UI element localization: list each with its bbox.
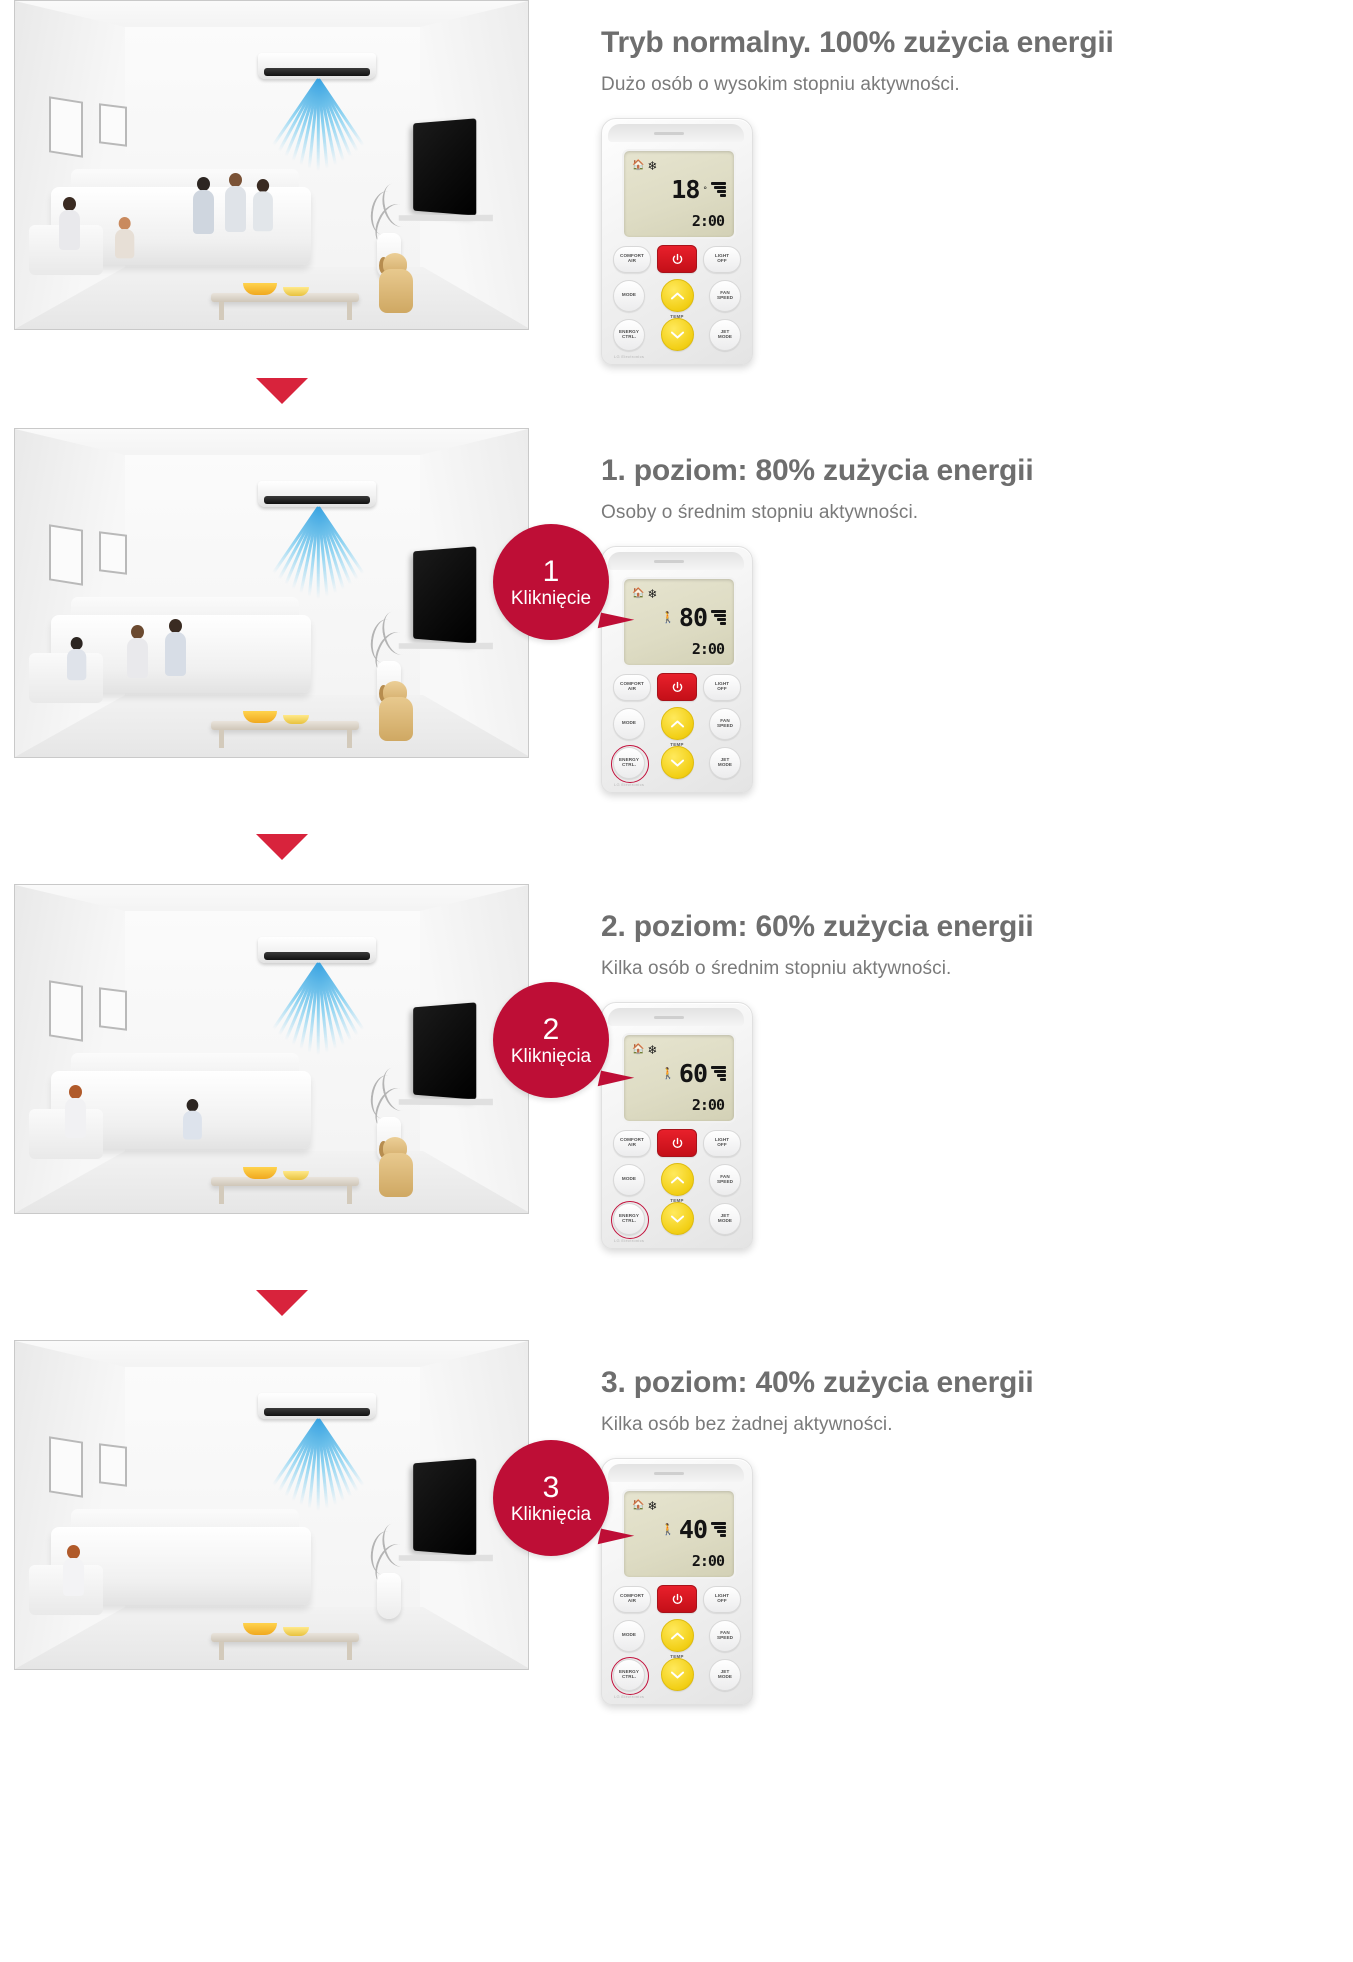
remote-top-bezel: [608, 124, 744, 142]
room-illustration: [15, 429, 528, 757]
mode-button[interactable]: MODE: [613, 708, 645, 740]
step-separator: [0, 372, 1353, 428]
section-heading: 2. poziom: 60% zużycia energii: [601, 910, 1353, 944]
section-text: 1. poziom: 80% zużycia energii Osoby o ś…: [601, 428, 1353, 796]
airflow-graphic: [251, 507, 383, 603]
triangle-down-icon: [256, 1290, 308, 1316]
chevron-down-icon: [670, 1214, 685, 1224]
remote-lcd-display: 🏠 ❄ 18 ° 2:00: [622, 149, 736, 239]
house-icon: 🏠: [632, 589, 644, 599]
remote-button-grid: COMFORT AIR LIGHT OFF: [613, 1129, 741, 1241]
degree-symbol: °: [703, 185, 707, 195]
section-text: 2. poziom: 60% zużycia energii Kilka osó…: [601, 884, 1353, 1252]
person-icon: 🚶: [661, 1067, 675, 1080]
section-heading: 3. poziom: 40% zużycia energii: [601, 1366, 1353, 1400]
ottoman: [29, 653, 103, 703]
section-subheading: Kilka osób o średnim stopniu aktywności.: [601, 958, 1353, 980]
click-count-number: 3: [543, 1473, 560, 1503]
temp-up-button[interactable]: [661, 279, 694, 312]
energy-control-infographic: Tryb normalny. 100% zużycia energii Dużo…: [0, 0, 1353, 1962]
remote-control[interactable]: 🏠 ❄ 🚶 60 2:00 COMFORT AIR: [601, 1002, 751, 1252]
comfort-air-button[interactable]: COMFORT AIR: [613, 246, 651, 273]
snowflake-icon: ❄: [647, 1044, 657, 1056]
picture-frame: [99, 531, 127, 574]
lcd-value: 40: [679, 1517, 707, 1542]
jet-mode-button[interactable]: JET MODE: [709, 1659, 741, 1691]
triangle-down-icon: [256, 834, 308, 860]
chevron-up-icon: [670, 719, 685, 729]
chevron-up-icon: [670, 1631, 685, 1641]
remote-top-bezel: [608, 552, 744, 570]
remote-lcd-display: 🏠 ❄ 🚶 80 2:00: [622, 577, 736, 667]
snowflake-icon: ❄: [647, 160, 657, 172]
temp-down-button[interactable]: [661, 746, 694, 779]
section-heading: Tryb normalny. 100% zużycia energii: [601, 26, 1353, 60]
picture-frame: [99, 103, 127, 146]
temp-down-button[interactable]: [661, 318, 694, 351]
light-off-button[interactable]: LIGHT OFF: [703, 246, 741, 273]
tv-stand: [399, 643, 493, 650]
room-illustration: [15, 885, 528, 1213]
remote-footnote: LG Electronics: [614, 354, 644, 359]
fan-bars-icon: [711, 1066, 726, 1081]
snowflake-icon: ❄: [647, 588, 657, 600]
television: [413, 1458, 476, 1555]
triangle-down-icon: [256, 378, 308, 404]
scene-illustration: [14, 1340, 529, 1670]
lcd-timer: 2:00: [692, 1552, 724, 1570]
table-leg: [347, 302, 352, 320]
temp-up-button[interactable]: [661, 707, 694, 740]
power-button[interactable]: [657, 1585, 697, 1613]
lcd-value: 18: [671, 177, 699, 202]
air-conditioner-unit: [258, 53, 376, 79]
fan-speed-button[interactable]: FAN SPEED: [709, 1620, 741, 1652]
fan-speed-button[interactable]: FAN SPEED: [709, 1164, 741, 1196]
section-text: 3. poziom: 40% zużycia energii Kilka osó…: [601, 1340, 1353, 1708]
remote-footnote: LG Electronics: [614, 1238, 644, 1243]
energy-level-section: 2 Kliknięcia 2. poziom: 60% zużycia ener…: [0, 884, 1353, 1284]
energy-ctrl-button[interactable]: ENERGY CTRL.: [613, 319, 645, 351]
table-leg: [219, 1642, 224, 1660]
chevron-down-icon: [670, 1670, 685, 1680]
coffee-table: [211, 1633, 359, 1642]
scene-illustration-wrapper: 3 Kliknięcia: [14, 1340, 529, 1670]
coffee-table: [211, 721, 359, 730]
remote-lcd-display: 🏠 ❄ 🚶 40 2:00: [622, 1489, 736, 1579]
jet-mode-button[interactable]: JET MODE: [709, 319, 741, 351]
click-count-number: 2: [543, 1015, 560, 1045]
light-off-button[interactable]: LIGHT OFF: [703, 674, 741, 701]
airflow-graphic: [251, 963, 383, 1059]
air-conditioner-unit: [258, 481, 376, 507]
vase: [377, 1573, 401, 1619]
jet-mode-button[interactable]: JET MODE: [709, 1203, 741, 1235]
power-button[interactable]: [657, 1129, 697, 1157]
power-button[interactable]: [657, 245, 697, 273]
remote-footnote: LG Electronics: [614, 782, 644, 787]
dog: [379, 1153, 413, 1197]
remote-button-grid: COMFORT AIR LIGHT OFF: [613, 1585, 741, 1697]
remote-control[interactable]: 🏠 ❄ 🚶 40 2:00 COMFORT AIR: [601, 1458, 751, 1708]
remote-top-bezel: [608, 1008, 744, 1026]
television: [413, 118, 476, 215]
click-count-badge: 1 Kliknięcie: [493, 524, 609, 640]
table-leg: [347, 1186, 352, 1204]
room-illustration: [15, 1, 528, 329]
mode-button[interactable]: MODE: [613, 1164, 645, 1196]
table-leg: [347, 1642, 352, 1660]
click-count-badge: 2 Kliknięcia: [493, 982, 609, 1098]
lcd-timer: 2:00: [692, 1096, 724, 1114]
section-subheading: Dużo osób o wysokim stopniu aktywności.: [601, 74, 1353, 96]
energy-level-section: Tryb normalny. 100% zużycia energii Dużo…: [0, 0, 1353, 372]
lcd-timer: 2:00: [692, 640, 724, 658]
table-leg: [347, 730, 352, 748]
power-icon: [671, 681, 684, 694]
house-icon: 🏠: [632, 161, 644, 171]
energy-ctrl-button[interactable]: ENERGY CTRL.: [613, 747, 645, 779]
fan-bars-icon: [711, 1522, 726, 1537]
jet-mode-button[interactable]: JET MODE: [709, 747, 741, 779]
tv-stand: [399, 215, 493, 222]
section-subheading: Kilka osób bez żadnej aktywności.: [601, 1414, 1353, 1436]
picture-frame: [99, 1443, 127, 1486]
remote-footnote: LG Electronics: [614, 1694, 644, 1699]
picture-frame: [49, 524, 83, 585]
comfort-air-button[interactable]: COMFORT AIR: [613, 1130, 651, 1157]
air-conditioner-unit: [258, 937, 376, 963]
fan-speed-button[interactable]: FAN SPEED: [709, 280, 741, 312]
light-off-button[interactable]: LIGHT OFF: [703, 1130, 741, 1157]
house-icon: 🏠: [632, 1045, 644, 1055]
table-leg: [219, 302, 224, 320]
coffee-table: [211, 1177, 359, 1186]
step-separator: [0, 1284, 1353, 1340]
power-icon: [671, 1137, 684, 1150]
energy-ctrl-button[interactable]: ENERGY CTRL.: [613, 1203, 645, 1235]
mode-button[interactable]: MODE: [613, 280, 645, 312]
snowflake-icon: ❄: [647, 1500, 657, 1512]
energy-ctrl-button[interactable]: ENERGY CTRL.: [613, 1659, 645, 1691]
click-count-label: Kliknięcia: [511, 1505, 591, 1524]
television: [413, 1002, 476, 1099]
person-icon: 🚶: [661, 1523, 675, 1536]
section-text: Tryb normalny. 100% zużycia energii Dużo…: [601, 0, 1353, 368]
tv-stand: [399, 1555, 493, 1562]
power-icon: [671, 253, 684, 266]
click-count-label: Kliknięcie: [511, 589, 591, 608]
airflow-graphic: [251, 79, 383, 175]
scene-illustration: [14, 428, 529, 758]
temp-up-button[interactable]: [661, 1163, 694, 1196]
house-icon: 🏠: [632, 1501, 644, 1511]
air-conditioner-unit: [258, 1393, 376, 1419]
chevron-down-icon: [670, 330, 685, 340]
chevron-up-icon: [670, 1175, 685, 1185]
click-count-badge: 3 Kliknięcia: [493, 1440, 609, 1556]
airflow-graphic: [251, 1419, 383, 1515]
remote-button-grid: COMFORT AIR LIGHT OFF: [613, 673, 741, 785]
temp-down-button[interactable]: [661, 1202, 694, 1235]
section-heading: 1. poziom: 80% zużycia energii: [601, 454, 1353, 488]
remote-control[interactable]: 🏠 ❄ 18 ° 2:00 COMFORT AIR: [601, 118, 751, 368]
fan-bars-icon: [711, 182, 726, 197]
lcd-value: 80: [679, 605, 707, 630]
scene-illustration-wrapper: [14, 0, 529, 330]
tv-stand: [399, 1099, 493, 1106]
scene-illustration: [14, 0, 529, 330]
table-leg: [219, 1186, 224, 1204]
step-separator: [0, 828, 1353, 884]
picture-frame: [49, 96, 83, 157]
remote-lcd-display: 🏠 ❄ 🚶 60 2:00: [622, 1033, 736, 1123]
power-icon: [671, 1593, 684, 1606]
comfort-air-button[interactable]: COMFORT AIR: [613, 1586, 651, 1613]
scene-illustration-wrapper: 1 Kliknięcie: [14, 428, 529, 758]
coffee-table: [211, 293, 359, 302]
energy-level-section: 3 Kliknięcia 3. poziom: 40% zużycia ener…: [0, 1340, 1353, 1740]
remote-button-grid: COMFORT AIR LIGHT OFF: [613, 245, 741, 357]
power-button[interactable]: [657, 673, 697, 701]
temp-up-button[interactable]: [661, 1619, 694, 1652]
picture-frame: [49, 1436, 83, 1497]
click-count-label: Kliknięcia: [511, 1047, 591, 1066]
remote-control[interactable]: 🏠 ❄ 🚶 80 2:00 COMFORT AIR: [601, 546, 751, 796]
lcd-value: 60: [679, 1061, 707, 1086]
fan-bars-icon: [711, 610, 726, 625]
chevron-up-icon: [670, 291, 685, 301]
scene-illustration: [14, 884, 529, 1214]
mode-button[interactable]: MODE: [613, 1620, 645, 1652]
fan-speed-button[interactable]: FAN SPEED: [709, 708, 741, 740]
click-count-number: 1: [543, 557, 560, 587]
chevron-down-icon: [670, 758, 685, 768]
scene-illustration-wrapper: 2 Kliknięcia: [14, 884, 529, 1214]
picture-frame: [99, 987, 127, 1030]
remote-top-bezel: [608, 1464, 744, 1482]
dog: [379, 697, 413, 741]
dog: [379, 269, 413, 313]
person-icon: 🚶: [661, 611, 675, 624]
energy-level-section: 1 Kliknięcie 1. poziom: 80% zużycia ener…: [0, 428, 1353, 828]
lcd-timer: 2:00: [692, 212, 724, 230]
light-off-button[interactable]: LIGHT OFF: [703, 1586, 741, 1613]
picture-frame: [49, 980, 83, 1041]
table-leg: [219, 730, 224, 748]
comfort-air-button[interactable]: COMFORT AIR: [613, 674, 651, 701]
television: [413, 546, 476, 643]
room-illustration: [15, 1341, 528, 1669]
temp-down-button[interactable]: [661, 1658, 694, 1691]
section-subheading: Osoby o średnim stopniu aktywności.: [601, 502, 1353, 524]
